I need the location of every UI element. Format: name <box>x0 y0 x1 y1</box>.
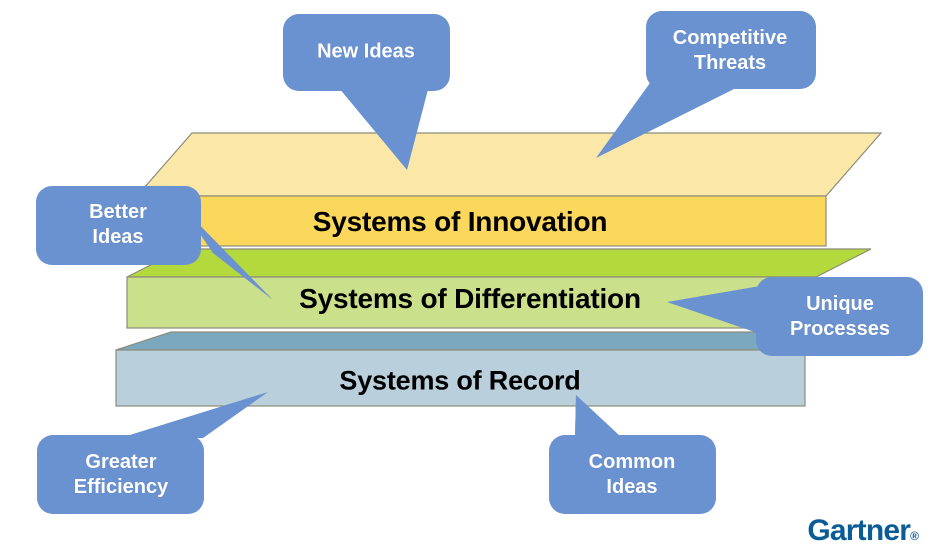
layer-label-differentiation: Systems of Differentiation <box>299 283 641 315</box>
gartner-logo: Gartner® <box>807 516 919 546</box>
gartner-logo-wordmark: Gartner <box>807 514 910 547</box>
callout-label-greater-efficiency: Greater Efficiency <box>74 450 168 500</box>
callout-label-common-ideas: Common Ideas <box>589 450 676 500</box>
layer-label-innovation: Systems of Innovation <box>313 206 608 238</box>
registered-trademark-icon: ® <box>910 529 919 543</box>
callout-label-competitive-threats: Competitive Threats <box>673 26 787 76</box>
callout-label-new-ideas: New Ideas <box>317 40 415 65</box>
layer-label-record: Systems of Record <box>339 366 580 397</box>
callout-label-better-ideas: Better Ideas <box>89 200 147 250</box>
diagram-canvas: Systems of Innovation Systems of Differe… <box>0 0 941 554</box>
callout-label-unique-processes: Unique Processes <box>790 292 890 342</box>
record-top-face <box>116 332 860 350</box>
innovation-top-face <box>137 133 881 196</box>
